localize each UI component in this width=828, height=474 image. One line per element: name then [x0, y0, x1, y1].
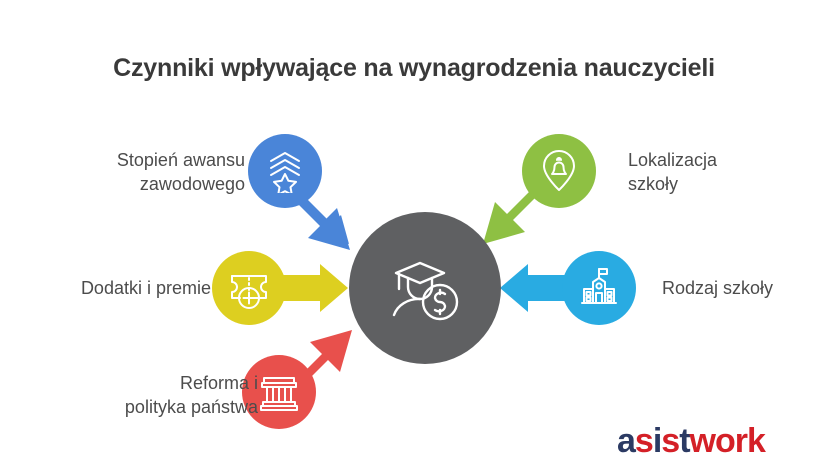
page-title: Czynniki wpływające na wynagrodzenia nau… [0, 53, 828, 83]
factor-node-location[interactable] [522, 134, 596, 208]
logo-word-work: work [690, 422, 765, 460]
ticket-plus-icon [226, 265, 272, 311]
center-hub-node[interactable] [349, 212, 501, 364]
government-building-icon [256, 369, 302, 415]
factor-label-reform: Reforma i polityka państwa [28, 371, 258, 420]
factor-label-location: Lokalizacja szkoły [628, 148, 828, 197]
logo-letter-s2: s [661, 422, 679, 460]
factor-node-advancement[interactable] [248, 134, 322, 208]
factor-label-bonuses: Dodatki i premie [0, 276, 211, 300]
factor-node-bonuses[interactable] [212, 251, 286, 325]
factor-node-schooltype[interactable] [562, 251, 636, 325]
logo-letter-t: t [679, 422, 689, 460]
factor-label-advancement: Stopień awansu zawodowego [15, 148, 245, 197]
graduate-with-dollar-coin-icon [382, 245, 468, 331]
logo-letter-a: a [617, 422, 635, 460]
logo-letter-s1: s [635, 422, 653, 460]
school-building-icon [576, 265, 622, 311]
factor-label-schooltype: Rodzaj szkoły [662, 276, 828, 300]
chevrons-and-star-icon [263, 149, 307, 193]
brand-logo[interactable]: asistwork [617, 424, 765, 458]
map-pin-bell-icon [536, 148, 582, 194]
infographic-canvas: Czynniki wpływające na wynagrodzenia nau… [0, 0, 828, 474]
